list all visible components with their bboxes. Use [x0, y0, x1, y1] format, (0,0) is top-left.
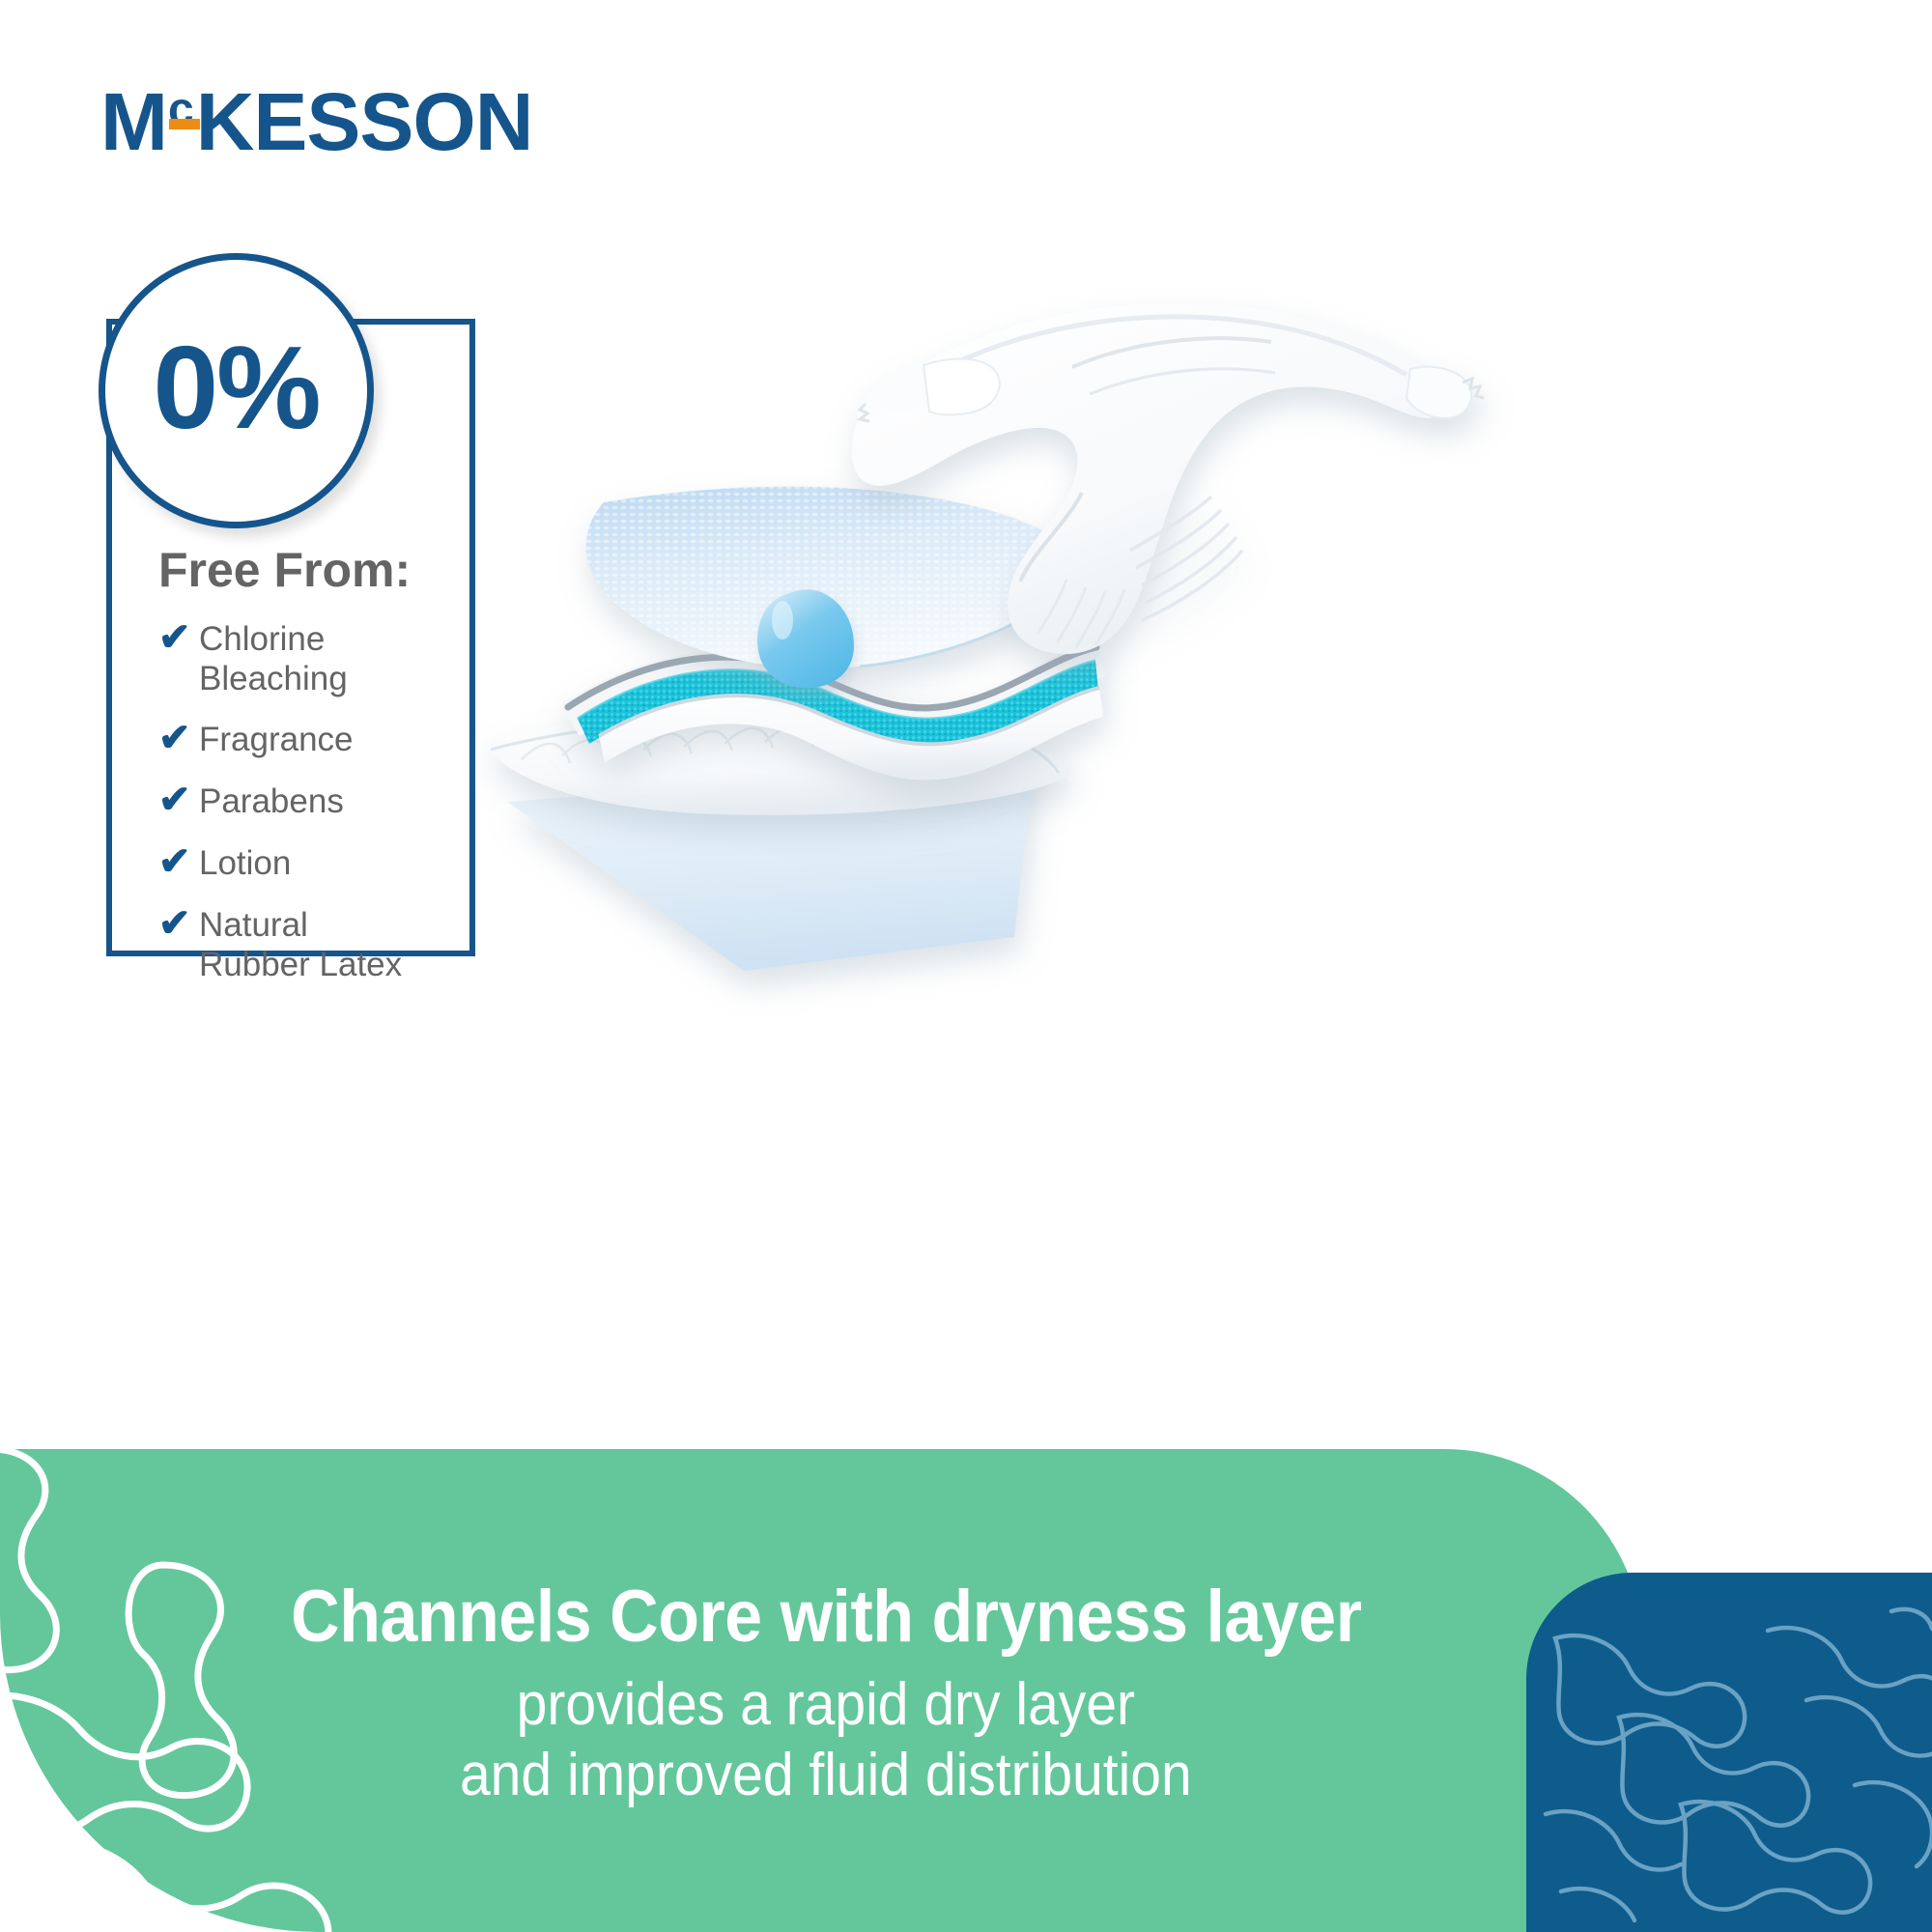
banner-title: Channels Core with dryness layer — [291, 1578, 1361, 1656]
checkmark-icon: ✔ — [158, 718, 199, 758]
list-item: ✔ Lotion — [158, 843, 469, 884]
checkmark-icon: ✔ — [158, 780, 199, 820]
banner-text-block: Channels Core with dryness layer provide… — [0, 1449, 1526, 1932]
list-item-label: Chlorine Bleaching — [199, 619, 348, 699]
zero-percent-badge: 0% — [99, 253, 374, 528]
list-item-label: Lotion — [199, 843, 291, 883]
checkmark-icon: ✔ — [158, 617, 199, 658]
list-item-label: Parabens — [199, 781, 344, 821]
list-item: ✔ Natural Rubber Latex — [158, 905, 469, 985]
zero-percent-value: 0% — [153, 328, 319, 446]
feature-banner: Channels Core with dryness layer provide… — [0, 1449, 1642, 1932]
logo-superscript-c-group: c — [168, 85, 194, 133]
list-item-label: Natural Rubber Latex — [199, 905, 402, 985]
free-from-list: ✔ Chlorine Bleaching ✔ Fragrance ✔ Parab… — [158, 619, 469, 985]
banner-subtitle: provides a rapid dry layer and improved … — [460, 1669, 1192, 1810]
list-item-label: Fragrance — [199, 720, 354, 759]
corner-accent-panel — [1526, 1573, 1932, 1932]
logo-letters-kesson: KESSON — [196, 85, 533, 159]
mckesson-logo: M c KESSON — [100, 85, 532, 159]
corner-molecule-pattern — [1526, 1573, 1932, 1932]
logo-orange-bar-icon — [169, 119, 200, 129]
checkmark-icon: ✔ — [158, 841, 199, 882]
checkmark-icon: ✔ — [158, 903, 199, 944]
list-item: ✔ Fragrance — [158, 720, 469, 760]
logo-letter-m: M — [100, 85, 167, 159]
product-photo — [454, 261, 1517, 1034]
free-from-heading: Free From: — [158, 545, 469, 596]
list-item: ✔ Parabens — [158, 781, 469, 822]
list-item: ✔ Chlorine Bleaching — [158, 619, 469, 699]
